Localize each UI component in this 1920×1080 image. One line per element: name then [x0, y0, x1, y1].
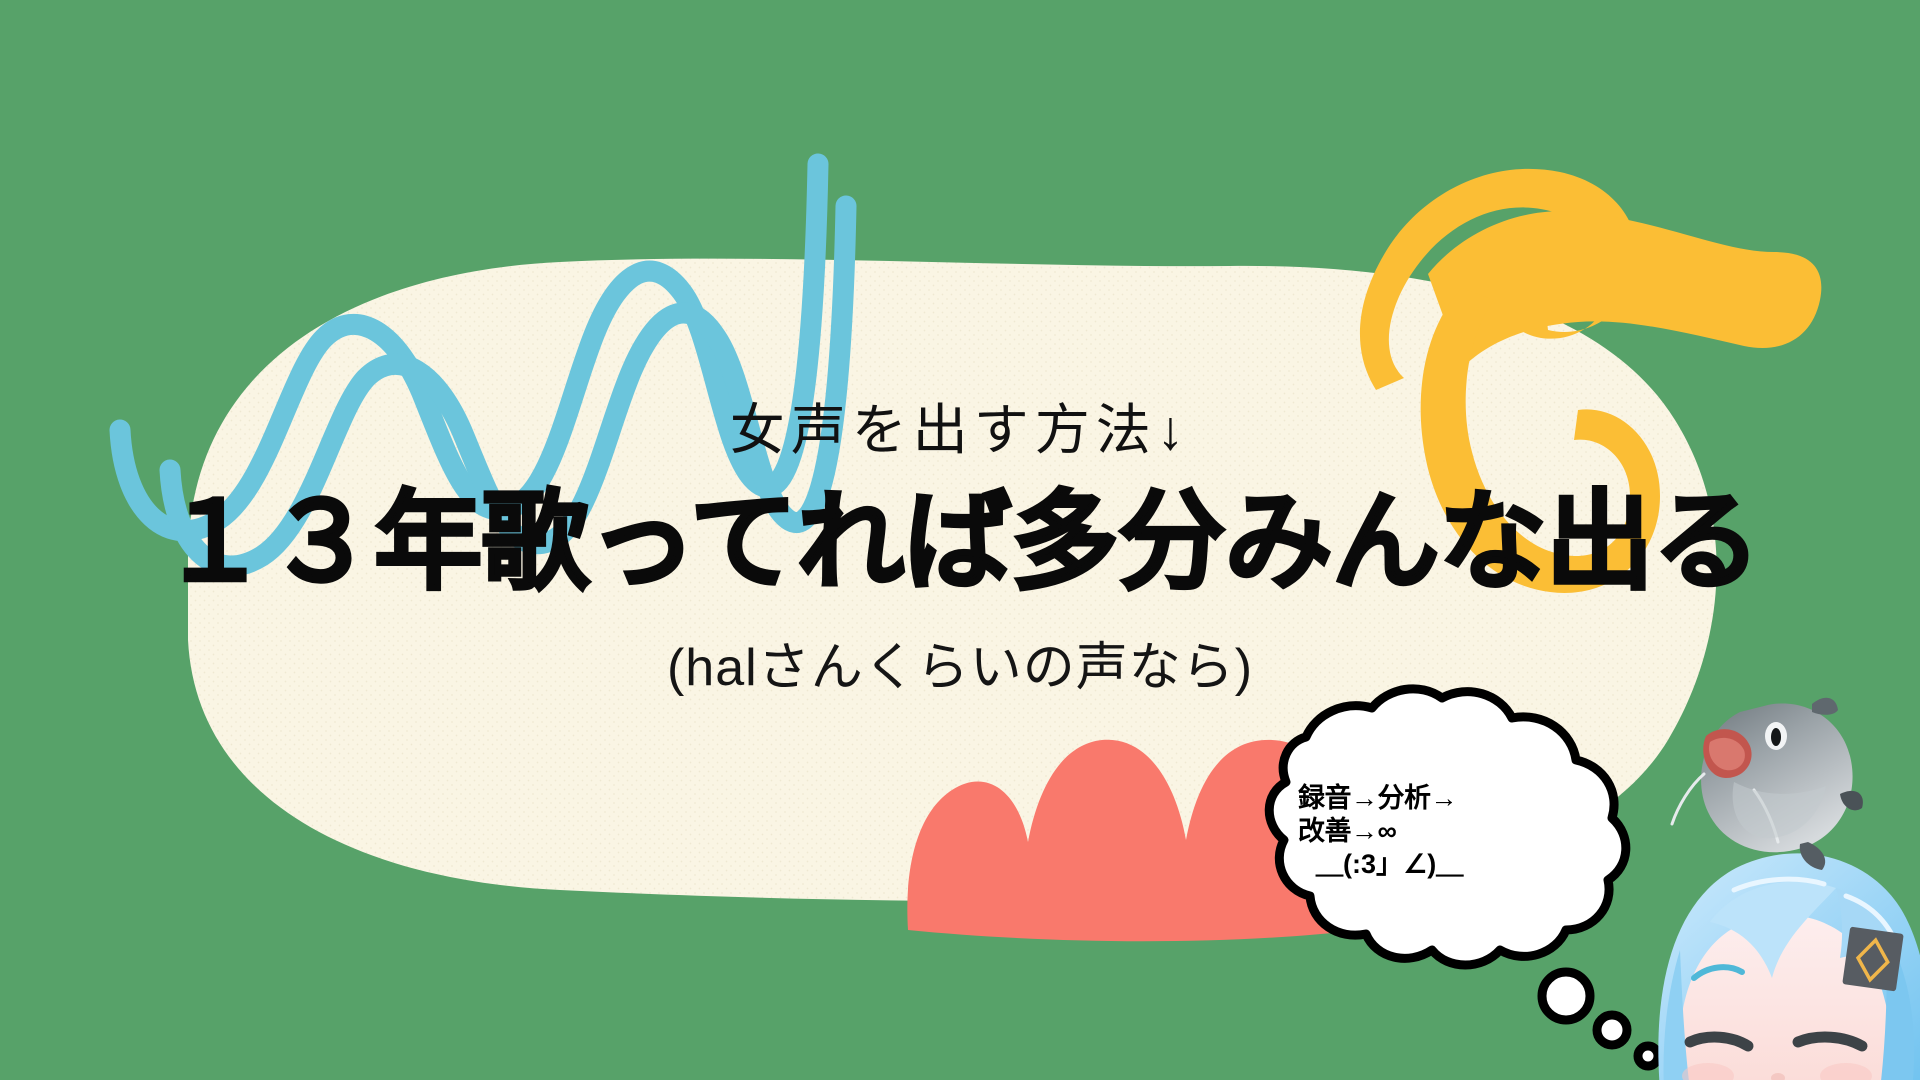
avatar-head	[1658, 853, 1920, 1080]
subnote-text: (halさんくらいの声なら)	[0, 625, 1920, 700]
thought-line-3: ＿(:3」∠)＿	[1298, 848, 1578, 881]
hair-clip	[1842, 927, 1904, 992]
headline-text: １３年歌ってれば多分みんな出る	[0, 488, 1920, 596]
thought-line-2: 改善→∞	[1298, 815, 1578, 848]
thought-bubble-text: 録音→分析→ 改善→∞ ＿(:3」∠)＿	[1298, 782, 1578, 881]
fish-on-head	[1672, 698, 1863, 870]
thought-line-1: 録音→分析→	[1298, 782, 1578, 815]
eyebrow-text: 女声を出す方法↓	[0, 385, 1920, 465]
thumbnail-canvas: 女声を出す方法↓ １３年歌ってれば多分みんな出る (halさんくらいの声なら) …	[0, 0, 1920, 1080]
title-text-block: 女声を出す方法↓ １３年歌ってれば多分みんな出る (halさんくらいの声なら)	[0, 0, 1920, 1080]
blue-haired-vtuber-avatar	[1650, 690, 1920, 1080]
